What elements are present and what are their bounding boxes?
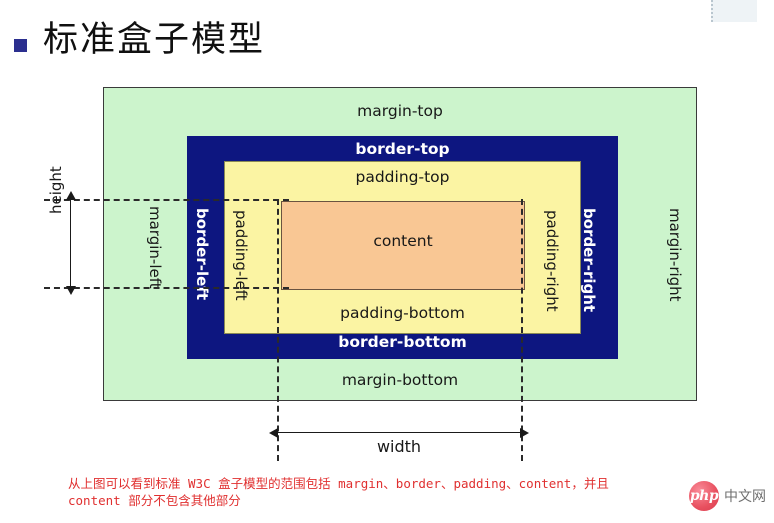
label-margin-top: margin-top bbox=[104, 102, 696, 120]
label-margin-bottom: margin-bottom bbox=[104, 371, 696, 389]
page-title: 标准盒子模型 bbox=[14, 22, 265, 59]
caption-line-2: content 部分不包含其他部分 bbox=[68, 493, 688, 510]
label-height: height bbox=[47, 166, 65, 214]
guide-line-content-left bbox=[277, 199, 279, 461]
page-title-text: 标准盒子模型 bbox=[43, 22, 265, 59]
width-arrow bbox=[277, 432, 521, 433]
caption-line-1: 从上图可以看到标准 W3C 盒子模型的范围包括 margin、border、pa… bbox=[68, 476, 688, 493]
border-box: border-top border-bottom border-left bor… bbox=[187, 136, 618, 359]
label-padding-right: padding-right bbox=[543, 210, 561, 312]
label-border-top: border-top bbox=[187, 140, 618, 158]
bullet-square-icon bbox=[14, 39, 27, 52]
slide-canvas: 标准盒子模型 margin-top margin-bottom margin-l… bbox=[0, 0, 774, 523]
guide-line-content-bottom bbox=[44, 287, 289, 289]
label-margin-left: margin-left bbox=[146, 206, 164, 289]
label-padding-top: padding-top bbox=[225, 168, 580, 186]
guide-line-content-right bbox=[521, 199, 523, 461]
content-box: content bbox=[281, 201, 525, 290]
margin-box: margin-top margin-bottom margin-left mar… bbox=[103, 87, 697, 401]
guide-line-content-top bbox=[44, 199, 289, 201]
top-right-artifact bbox=[711, 0, 757, 22]
label-border-right: border-right bbox=[580, 208, 598, 312]
height-arrow bbox=[70, 199, 71, 287]
label-border-bottom: border-bottom bbox=[187, 333, 618, 351]
label-margin-right: margin-right bbox=[666, 208, 684, 302]
watermark-site-text: 中文网 bbox=[724, 486, 766, 506]
label-content: content bbox=[282, 232, 524, 250]
watermark: php 中文网 bbox=[689, 481, 766, 511]
label-width-wrapper: width bbox=[0, 437, 774, 456]
caption: 从上图可以看到标准 W3C 盒子模型的范围包括 margin、border、pa… bbox=[68, 476, 688, 510]
php-logo-icon: php bbox=[689, 481, 719, 511]
label-width: width bbox=[377, 437, 421, 456]
